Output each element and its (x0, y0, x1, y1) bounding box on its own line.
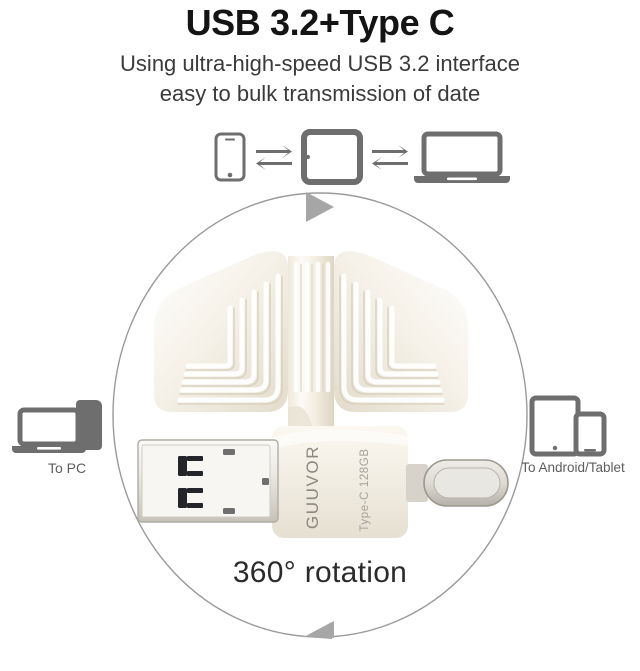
spec-label: Type-C 128GB (359, 448, 371, 531)
page-title: USB 3.2+Type C (0, 2, 640, 44)
transfer-arrow-right (372, 145, 408, 170)
laptop-icon (414, 134, 510, 183)
drive-housing (272, 426, 408, 538)
to-android-tablet-label-group: To Android/Tablet (508, 396, 638, 475)
to-android-tablet-caption: To Android/Tablet (508, 460, 638, 475)
infographic-root: USB 3.2+Type C Using ultra-high-speed US… (0, 0, 640, 671)
to-pc-label-group: To PC (2, 396, 132, 476)
usb-a-connector (138, 440, 278, 522)
usb-drive-illustration: GUUVOR Type-C 128GB (120, 240, 520, 550)
tablet-icon (532, 398, 578, 454)
phone-icon (576, 414, 604, 454)
rotation-arrow-top-icon (306, 192, 334, 222)
subtitle-line-1: Using ultra-high-speed USB 3.2 interface (0, 49, 640, 79)
subtitle-line-2: easy to bulk transmission of date (0, 79, 640, 109)
page-subtitle: Using ultra-high-speed USB 3.2 interface… (0, 49, 640, 109)
transfer-device-row (0, 128, 640, 186)
laptop-icon (12, 410, 86, 453)
left-fan-wing (154, 251, 288, 412)
usb-c-connector (406, 460, 508, 506)
drive-body (288, 256, 334, 446)
to-pc-caption: To PC (2, 460, 132, 476)
right-fan-wing (334, 251, 468, 412)
rotation-caption: 360° rotation (0, 556, 640, 590)
tablet-icon (304, 132, 360, 182)
phone-icon (216, 134, 244, 180)
transfer-arrow-left (256, 145, 292, 170)
brand-label: GUUVOR (303, 445, 322, 529)
